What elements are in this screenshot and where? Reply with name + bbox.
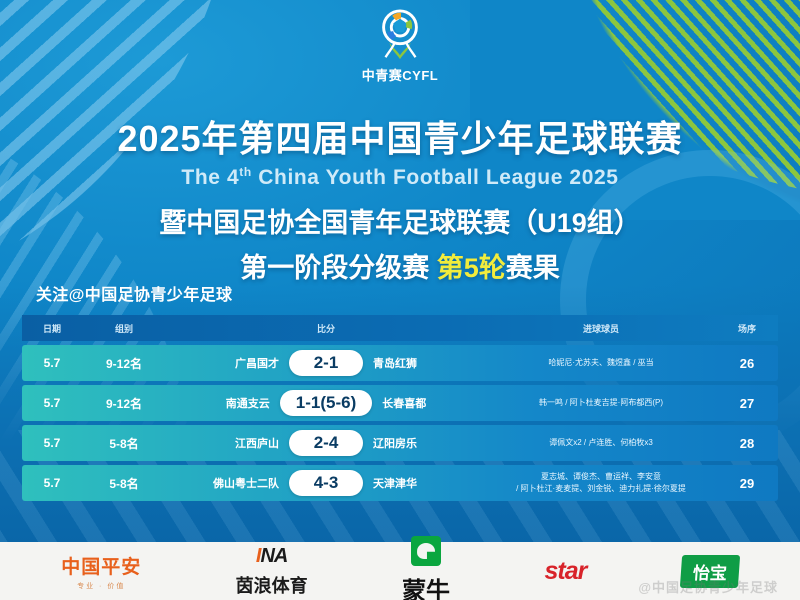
- subtitle-round-highlight: 第5轮: [437, 253, 506, 283]
- cell-match-no: 29: [716, 476, 778, 491]
- table-row: 5.75-8名江西庐山2-4辽阳房乐谭佩文x2 / 卢连胜、何柏牧x328: [22, 425, 778, 461]
- header-date: 日期: [22, 322, 82, 335]
- cell-scorers: 谭佩文x2 / 卢连胜、何柏牧x3: [486, 437, 716, 449]
- sponsor-mengniu: 蒙牛: [402, 536, 450, 600]
- sponsor-ina: INA 茵浪体育: [236, 545, 308, 598]
- title-en-prefix: The 4: [181, 166, 239, 189]
- cell-scorers: 夏志城、谭俊杰、曹运祥、李安意 / 阿卜杜江·麦麦提、刘金锐、迪力扎提·徐尔夏提: [486, 471, 716, 495]
- table-row: 5.79-12名南通支云1-1(5-6)长春喜都韩一鸣 / 阿卜杜麦吉提·阿布都…: [22, 385, 778, 421]
- cell-group: 9-12名: [82, 395, 166, 412]
- title-block: 2025年第四届中国青少年足球联赛 The 4th China Youth Fo…: [0, 110, 800, 285]
- mengniu-logo-icon: [411, 536, 441, 566]
- cell-match-no: 27: [716, 396, 778, 411]
- cell-group: 5-8名: [82, 475, 166, 492]
- page-title-english: The 4th China Youth Football League 2025: [0, 165, 800, 190]
- subtitle-results: 赛果: [506, 253, 560, 283]
- header-score: 比分: [166, 322, 486, 335]
- cell-date: 5.7: [22, 356, 82, 370]
- cell-scorers: 韩一鸣 / 阿卜杜麦吉提·阿布都西(P): [486, 397, 716, 409]
- subtitle-line-1: 暨中国足协全国青年足球联赛（U19组）: [0, 201, 800, 240]
- score-pill: 2-1: [289, 350, 363, 376]
- cell-score: 佛山粤士二队4-3天津津华: [166, 470, 486, 496]
- sponsor-pingan-name: 中国平安: [61, 552, 141, 579]
- cell-score: 南通支云1-1(5-6)长春喜都: [166, 390, 486, 416]
- cell-date: 5.7: [22, 436, 82, 450]
- cell-date: 5.7: [22, 396, 82, 410]
- page-title: 2025年第四届中国青少年足球联赛: [0, 110, 800, 162]
- cell-group: 9-12名: [82, 355, 166, 372]
- sponsor-star-name: star: [544, 557, 586, 586]
- team-home: 佛山粤士二队: [193, 475, 279, 491]
- score-pill: 4-3: [289, 470, 363, 496]
- title-en-rest: China Youth Football League 2025: [252, 166, 619, 189]
- cell-scorers: 哈妮尼·尤苏夫、魏煜鑫 / 巫当: [486, 357, 716, 369]
- league-logo: 中青赛CYFL: [0, 8, 800, 84]
- table-header-row: 日期 组别 比分 进球球员 场序: [22, 315, 778, 341]
- sponsor-yibao: 怡宝: [681, 555, 739, 588]
- header-scorers: 进球球员: [486, 322, 716, 335]
- cell-match-no: 28: [716, 436, 778, 451]
- team-home: 江西庐山: [193, 435, 279, 451]
- sponsor-ina-name: 茵浪体育: [236, 572, 308, 598]
- follow-handle: 关注@中国足协青少年足球: [36, 281, 232, 305]
- table-row: 5.75-8名佛山粤士二队4-3天津津华夏志城、谭俊杰、曹运祥、李安意 / 阿卜…: [22, 465, 778, 501]
- score-pill: 1-1(5-6): [280, 390, 372, 416]
- subtitle-line-2: 第一阶段分级赛 第5轮赛果: [0, 246, 800, 285]
- team-home: 广昌国才: [193, 355, 279, 371]
- results-table: 日期 组别 比分 进球球员 场序 5.79-12名广昌国才2-1青岛红狮哈妮尼·…: [22, 315, 778, 501]
- team-home: 南通支云: [184, 395, 270, 411]
- cell-score: 广昌国才2-1青岛红狮: [166, 350, 486, 376]
- sponsor-star: star: [544, 557, 586, 586]
- cell-date: 5.7: [22, 476, 82, 490]
- sponsor-ina-mark: INA: [256, 545, 287, 568]
- sponsor-mengniu-name: 蒙牛: [402, 571, 450, 600]
- team-away: 长春喜都: [382, 395, 468, 411]
- table-body: 5.79-12名广昌国才2-1青岛红狮哈妮尼·尤苏夫、魏煜鑫 / 巫当265.7…: [22, 345, 778, 501]
- sponsor-bar: 中国平安 专业 · 价值 INA 茵浪体育 蒙牛 star 怡宝: [0, 542, 800, 600]
- team-away: 辽阳房乐: [373, 435, 459, 451]
- logo-wordmark: 中青赛CYFL: [362, 65, 438, 84]
- sponsor-pingan: 中国平安 专业 · 价值: [61, 552, 141, 591]
- score-pill: 2-4: [289, 430, 363, 456]
- sponsor-ina-mark-na: NA: [260, 545, 287, 567]
- cell-group: 5-8名: [82, 435, 166, 452]
- cell-score: 江西庐山2-4辽阳房乐: [166, 430, 486, 456]
- team-away: 天津津华: [373, 475, 459, 491]
- table-row: 5.79-12名广昌国才2-1青岛红狮哈妮尼·尤苏夫、魏煜鑫 / 巫当26: [22, 345, 778, 381]
- cyfl-football-logo-icon: [371, 8, 429, 64]
- sponsor-pingan-tagline: 专业 · 价值: [77, 581, 125, 591]
- cell-match-no: 26: [716, 356, 778, 371]
- sponsor-yibao-name: 怡宝: [680, 555, 740, 588]
- team-away: 青岛红狮: [373, 355, 459, 371]
- header-group: 组别: [82, 322, 166, 335]
- subtitle-stage: 第一阶段分级赛: [240, 253, 437, 283]
- title-en-ordinal: th: [239, 165, 252, 179]
- header-match-no: 场序: [716, 322, 778, 335]
